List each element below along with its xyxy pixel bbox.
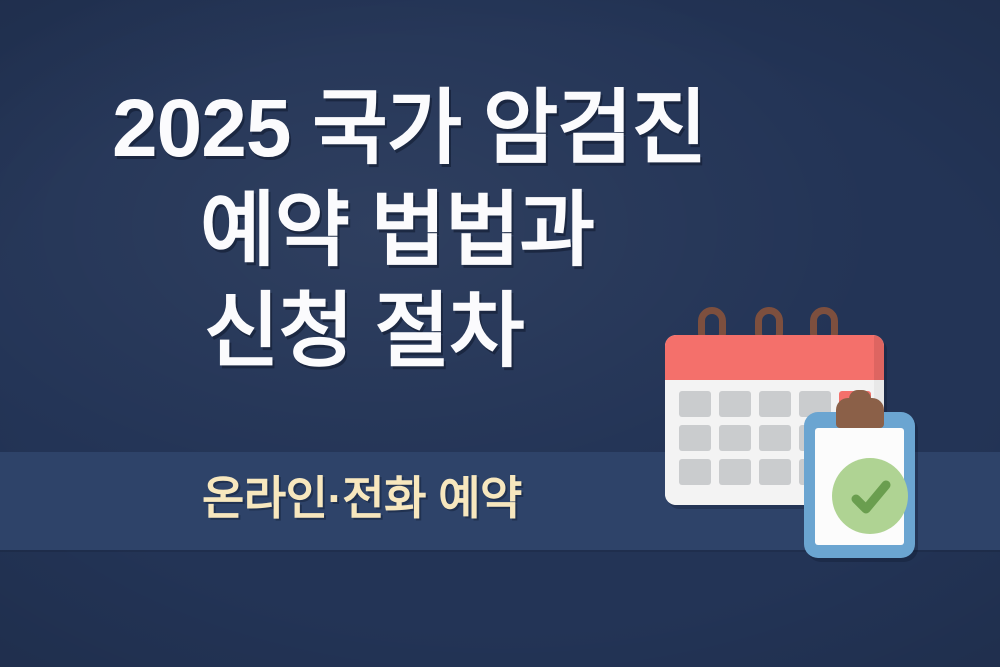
ring-cover <box>691 335 733 349</box>
ring-cover <box>748 335 790 349</box>
calendar-day-cell <box>759 391 791 417</box>
calendar-day-cell <box>759 459 791 485</box>
check-mark-icon <box>847 474 895 522</box>
clipboard-icon <box>804 412 915 558</box>
calendar-day-cell <box>679 391 711 417</box>
calendar-day-cell <box>679 425 711 451</box>
clipboard-clip <box>836 398 884 428</box>
ring-cover <box>803 335 845 349</box>
calendar-day-cell <box>719 391 751 417</box>
calendar-day-cell <box>679 459 711 485</box>
calendar-day-cell <box>719 425 751 451</box>
calendar-day-cell <box>759 425 791 451</box>
title-line-2: 예약 법법과 <box>112 180 912 282</box>
calendar-clipboard-illustration <box>650 295 950 570</box>
promo-thumbnail-card: 2025 국가 암검진 예약 법법과 신청 절차 온라인·전화 예약 <box>0 0 1000 667</box>
clipboard-paper <box>815 428 904 545</box>
title-line-1: 2025 국가 암검진 <box>112 78 912 180</box>
calendar-day-cell <box>719 459 751 485</box>
subtitle: 온라인·전화 예약 <box>202 462 522 528</box>
